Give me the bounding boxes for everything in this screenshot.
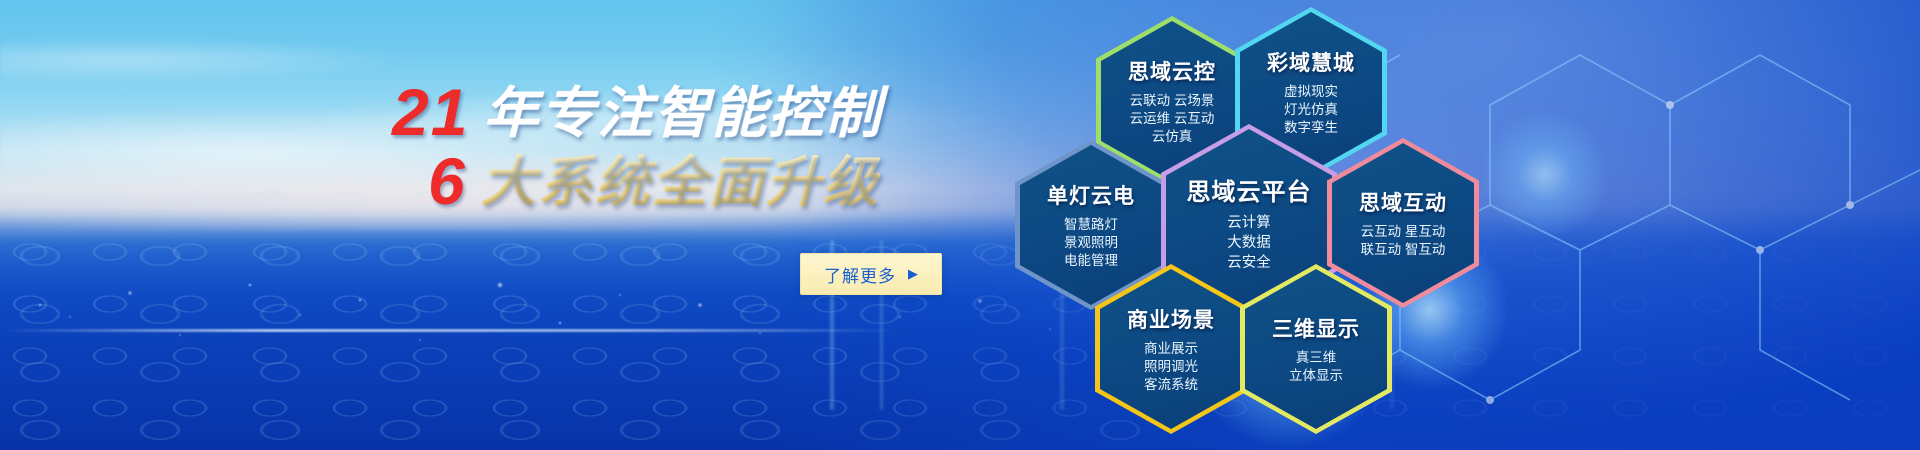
hexagon-items: 云联动 云场景 云运维 云互动 云仿真	[1128, 92, 1216, 146]
hexagon-item: 云运维 云互动	[1128, 110, 1216, 128]
hexagon-item: 照明调光	[1127, 358, 1215, 376]
headline-text-2: 大系统全面升级	[481, 151, 880, 213]
hexagon-item: 虚拟现实	[1267, 83, 1355, 101]
hexagon-title: 思域云平台	[1187, 172, 1312, 207]
hexagon-items: 智慧路灯 景观照明 电能管理	[1047, 216, 1135, 270]
promo-banner: 21年专注智能控制 6大系统全面升级 了解更多 ▶ 思域云控 云联动 云场景 云…	[0, 0, 1920, 450]
hexagon-item: 云互动 星互动	[1359, 223, 1447, 241]
hexagon-items: 真三维 立体显示	[1272, 349, 1360, 385]
hexagon-title: 三维显示	[1272, 313, 1360, 343]
hexagon-item: 立体显示	[1272, 367, 1360, 385]
headline-text-2-wrap: 大系统全面升级	[481, 151, 880, 213]
hexagon-item: 云计算	[1187, 213, 1312, 233]
hexagon-item: 云仿真	[1128, 128, 1216, 146]
hexagon-item: 智慧路灯	[1047, 216, 1135, 234]
hexagon-title: 思域互动	[1359, 187, 1447, 217]
hexagon-item: 商业展示	[1127, 340, 1215, 358]
hexagon-item: 联互动 智互动	[1359, 241, 1447, 259]
headline-text-1: 年专注智能控制	[483, 82, 882, 144]
hexagon-item: 云安全	[1187, 253, 1312, 273]
headline-line-2: 6大系统全面升级	[428, 137, 880, 219]
hexagon-title: 彩域慧城	[1267, 47, 1355, 77]
hexagon-items: 虚拟现实 灯光仿真 数字孪生	[1267, 83, 1355, 137]
hexagon-item: 真三维	[1272, 349, 1360, 367]
hexagon-items: 云互动 星互动 联互动 智互动	[1359, 223, 1447, 259]
hexagon-item: 景观照明	[1047, 234, 1135, 252]
hexagon-items: 商业展示 照明调光 客流系统	[1127, 340, 1215, 394]
headline-number-6: 6	[428, 143, 467, 219]
hexagon-item: 电能管理	[1047, 252, 1135, 270]
hexagon-item: 大数据	[1187, 233, 1312, 253]
hexagon-siyu-interaction[interactable]: 思域互动 云互动 星互动 联互动 智互动	[1327, 138, 1479, 308]
hexagon-cluster: 思域云控 云联动 云场景 云运维 云互动 云仿真 彩域慧城 虚拟现实 灯光仿真 …	[990, 0, 1550, 450]
hexagon-item: 客流系统	[1127, 376, 1215, 394]
hexagon-item: 云联动 云场景	[1128, 92, 1216, 110]
hexagon-title: 商业场景	[1127, 304, 1215, 334]
hexagon-item: 灯光仿真	[1267, 101, 1355, 119]
hexagon-title: 思域云控	[1128, 56, 1216, 86]
learn-more-button[interactable]: 了解更多 ▶	[800, 253, 942, 295]
hexagon-item: 数字孪生	[1267, 119, 1355, 137]
hexagon-title: 单灯云电	[1047, 180, 1135, 210]
play-arrow-icon: ▶	[908, 266, 918, 282]
learn-more-label: 了解更多	[824, 262, 896, 287]
hexagon-items: 云计算 大数据 云安全	[1187, 213, 1312, 273]
headline-block: 21年专注智能控制 6大系统全面升级 了解更多 ▶	[0, 0, 820, 450]
